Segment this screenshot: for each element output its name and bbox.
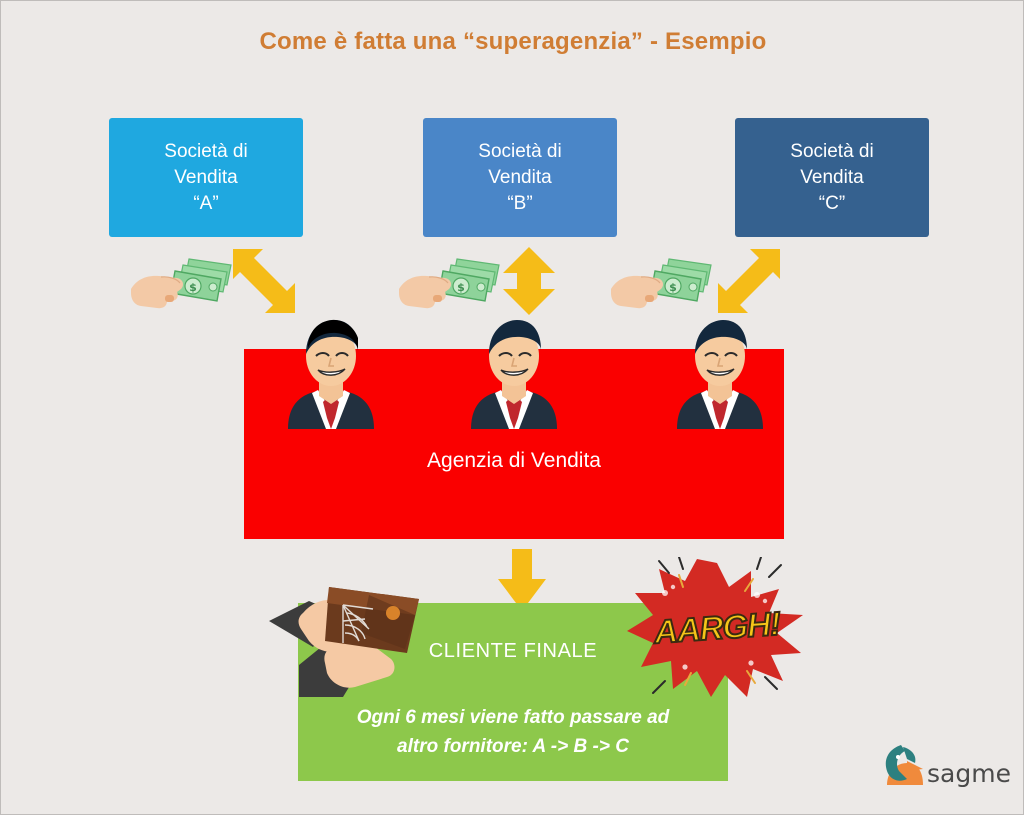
- company-box-a[interactable]: Società di Vendita “A”: [109, 118, 303, 237]
- hand-holding-money-icon: $: [399, 251, 509, 311]
- page-title: Come è fatta una “superagenzia” - Esempi…: [1, 28, 1024, 56]
- company-box-c-line2: Vendita: [800, 165, 863, 191]
- logo-text: sagme: [927, 759, 1011, 788]
- double-arrow-vertical-icon: [501, 247, 557, 315]
- empty-wallet-cobweb-icon: [269, 569, 449, 697]
- svg-text:$: $: [669, 281, 677, 294]
- company-box-c-line1: Società di: [790, 139, 873, 165]
- svg-text:$: $: [189, 281, 197, 294]
- company-box-a-line1: Società di: [164, 139, 247, 165]
- company-box-c-line3: “C”: [819, 191, 845, 217]
- businessman-icon: [667, 314, 773, 429]
- double-arrow-diagonal-up-right-icon: [716, 247, 786, 315]
- slide-canvas: Come è fatta una “superagenzia” - Esempi…: [0, 0, 1024, 815]
- company-box-c[interactable]: Società di Vendita “C”: [735, 118, 929, 237]
- company-box-b-line2: Vendita: [488, 165, 551, 191]
- double-arrow-diagonal-up-left-icon: [227, 247, 297, 315]
- businessman-icon: [278, 314, 384, 429]
- client-note: Ogni 6 mesi viene fatto passare ad altro…: [298, 703, 728, 761]
- company-box-b[interactable]: Società di Vendita “B”: [423, 118, 617, 237]
- company-box-b-line3: “B”: [507, 191, 532, 217]
- hand-holding-money-icon: $: [131, 251, 241, 311]
- aargh-burst: AARGH!: [625, 557, 809, 699]
- company-box-a-line2: Vendita: [174, 165, 237, 191]
- businessman-icon: [461, 314, 567, 429]
- arrow-down-icon: [496, 549, 548, 611]
- bird-logo-icon: [879, 741, 925, 791]
- logo[interactable]: sagme: [879, 737, 999, 795]
- client-note-line1: Ogni 6 mesi viene fatto passare ad: [357, 707, 670, 728]
- agency-label: Agenzia di Vendita: [244, 449, 784, 473]
- svg-text:$: $: [457, 281, 465, 294]
- company-box-b-line1: Società di: [478, 139, 561, 165]
- company-box-a-line3: “A”: [193, 191, 218, 217]
- client-note-line2: altro fornitore: A -> B -> C: [397, 736, 629, 757]
- hand-holding-money-icon: $: [611, 251, 721, 311]
